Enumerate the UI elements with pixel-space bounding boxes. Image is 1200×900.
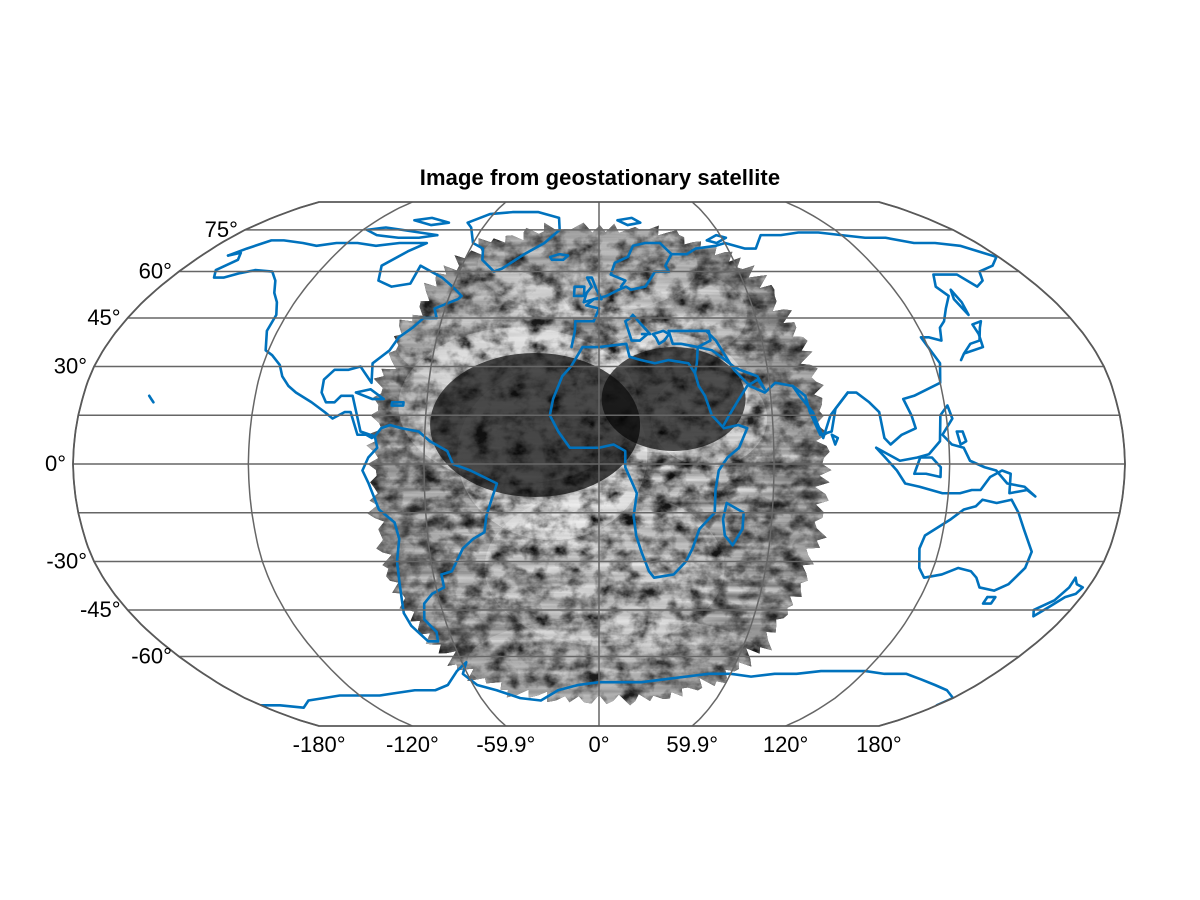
lon-tick-59_9: 59.9° [666,732,718,757]
coastline-segment [961,321,983,360]
coastline-segment [414,218,448,225]
lat-tick-30: 30° [54,354,87,379]
coastline-segment [214,253,375,438]
lat-tick--30: -30° [46,549,87,574]
lat-tick--45: -45° [80,597,121,622]
lon-tick--59_9: -59.9° [476,732,535,757]
lon-tick--120: -120° [386,732,439,757]
coastline-segment [983,597,995,603]
coastline-segment [876,406,1035,497]
map-plot: 75°60°45°30°0°-30°-45°-60° -180°-120°-59… [0,0,1200,900]
lon-tick-180: 180° [856,732,902,757]
lat-tick-60: 60° [139,259,172,284]
lon-tick-120: 120° [763,732,809,757]
lat-tick-75: 75° [205,217,238,242]
longitude-tick-labels: -180°-120°-59.9°0°59.9°120°180° [293,732,902,757]
figure-canvas: Image from geostationary satellite [0,0,1200,900]
coastline-segment [914,458,940,478]
coastline-segment [149,396,153,402]
coastline-segment [367,227,438,237]
coastline-segment [951,290,969,315]
coastline-segment [957,432,966,445]
lon-tick-0: 0° [588,732,609,757]
coastline-segment [617,218,640,225]
lat-tick-0: 0° [45,451,66,476]
coastline-segment [832,435,838,445]
lat-tick-45: 45° [87,305,120,330]
lon-tick--180: -180° [293,732,346,757]
lat-tick--60: -60° [131,644,172,669]
satellite-image-overlay [330,190,870,740]
